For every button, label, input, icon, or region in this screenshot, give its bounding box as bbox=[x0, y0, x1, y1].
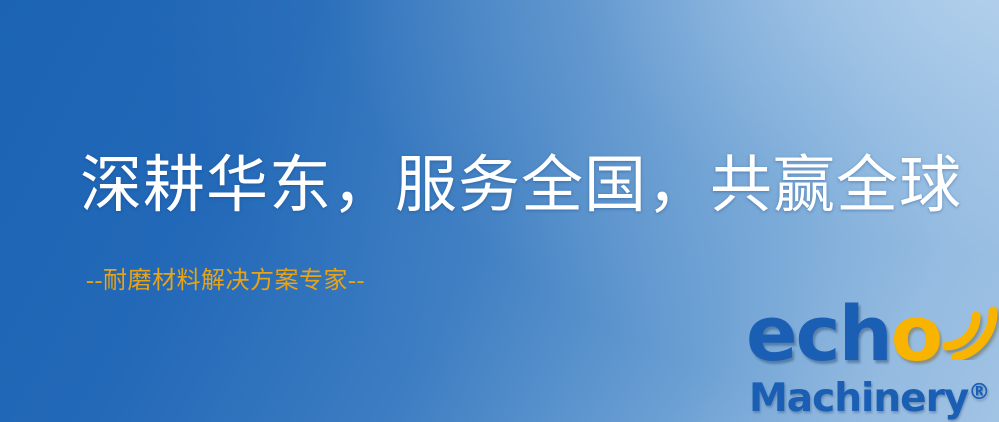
logo-subtitle: Machinery® bbox=[749, 370, 990, 422]
registered-trademark-icon: ® bbox=[968, 380, 990, 405]
banner-headline: 深耕华东，服务全国，共赢全球 bbox=[80, 150, 962, 222]
logo-wordmark-prefix: ech bbox=[746, 289, 891, 378]
banner-subheadline: --耐磨材料解决方案专家-- bbox=[86, 266, 365, 296]
echo-wave-icon bbox=[933, 294, 999, 360]
echo-machinery-logo: echo Machinery® bbox=[746, 292, 999, 422]
logo-wordmark: echo bbox=[746, 292, 941, 376]
promo-banner: 深耕华东，服务全国，共赢全球 --耐磨材料解决方案专家-- echo Machi… bbox=[0, 0, 999, 422]
logo-subtitle-text: Machinery bbox=[749, 376, 968, 421]
